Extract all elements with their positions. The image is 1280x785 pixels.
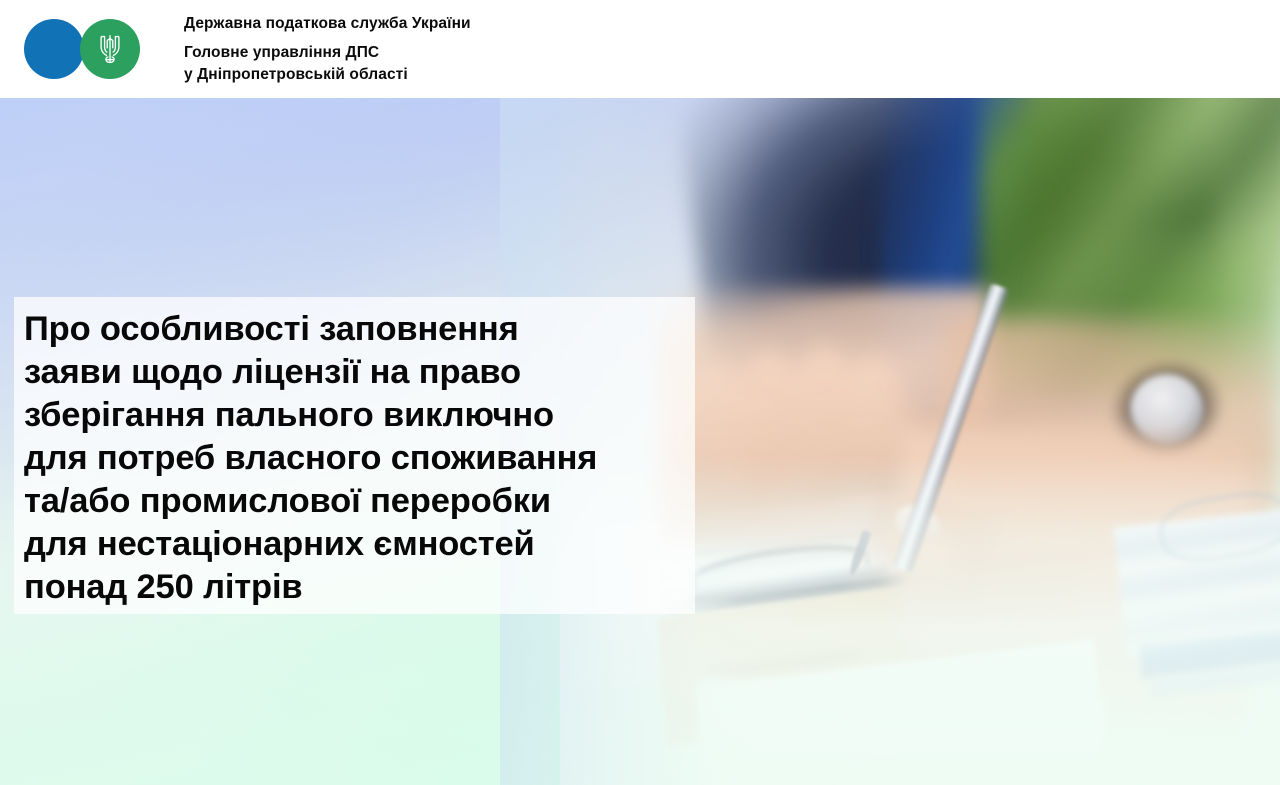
photo-clipboard-wood: [656, 561, 1083, 747]
photo-wire-binding: [1156, 486, 1280, 568]
photo-thumbnail: [890, 498, 947, 550]
photo-shirt: [676, 98, 1243, 508]
banner-page: Державна податкова служба України Головн…: [0, 0, 1280, 785]
photo-blue-notebook-2: [1149, 662, 1280, 698]
blue-circle-icon: [24, 19, 84, 79]
green-circle-icon: [80, 19, 140, 79]
photo-right-hand: [900, 428, 1250, 728]
photo-notebook-stack: [1114, 509, 1280, 657]
photo-box-side: [700, 674, 860, 785]
photo-box-front: [840, 698, 1105, 785]
photo-forearm: [950, 318, 1280, 618]
photo-plant-blur: [1044, 228, 1274, 438]
photo-blue-notebook: [1139, 630, 1280, 681]
organization-name: Державна податкова служба України: [184, 13, 471, 35]
photo-watch-band: [1097, 343, 1237, 474]
photo-clip-bar: [690, 562, 890, 603]
photo-pen-tip: [847, 530, 871, 576]
banner-title: Про особливості заповнення заяви щодо лі…: [24, 308, 695, 609]
dps-logo[interactable]: [24, 19, 154, 79]
ukraine-trident-emblem-icon: [96, 32, 124, 66]
photo-left-hand: [660, 288, 990, 548]
header-text-block: Державна податкова служба України Головн…: [184, 13, 471, 86]
photo-plant-leaves: [980, 98, 1280, 398]
department-name-line2: у Дніпропетровській області: [184, 64, 471, 86]
photo-clipboard-edge: [661, 534, 1219, 618]
photo-shirt-stripe: [880, 98, 1030, 408]
photo-box-top: [696, 639, 1104, 777]
photo-thumb: [846, 481, 1004, 626]
title-overlay-panel: Про особливості заповнення заяви щодо лі…: [14, 297, 695, 614]
photo-watch-face: [1130, 374, 1204, 444]
department-name-line1: Головне управління ДПС: [184, 42, 471, 64]
photo-clipboard-clip: [688, 536, 872, 601]
site-header: Державна податкова служба України Головн…: [0, 0, 1280, 98]
photo-pen: [892, 283, 1010, 574]
photo-clipboard-groove: [700, 647, 860, 683]
